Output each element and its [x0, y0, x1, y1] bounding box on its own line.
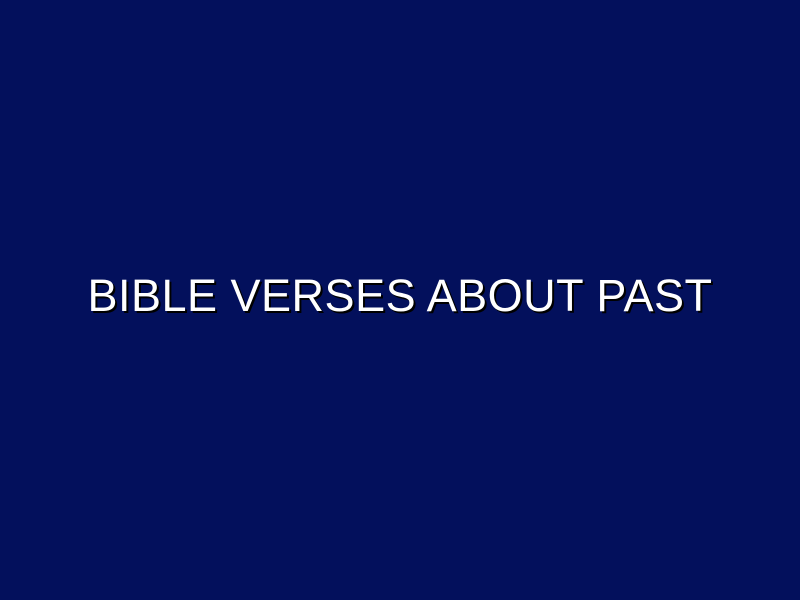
page-title: BIBLE VERSES ABOUT PAST [87, 272, 712, 319]
title-slide: BIBLE VERSES ABOUT PAST [0, 0, 800, 600]
title-block: BIBLE VERSES ABOUT PAST [0, 272, 800, 319]
